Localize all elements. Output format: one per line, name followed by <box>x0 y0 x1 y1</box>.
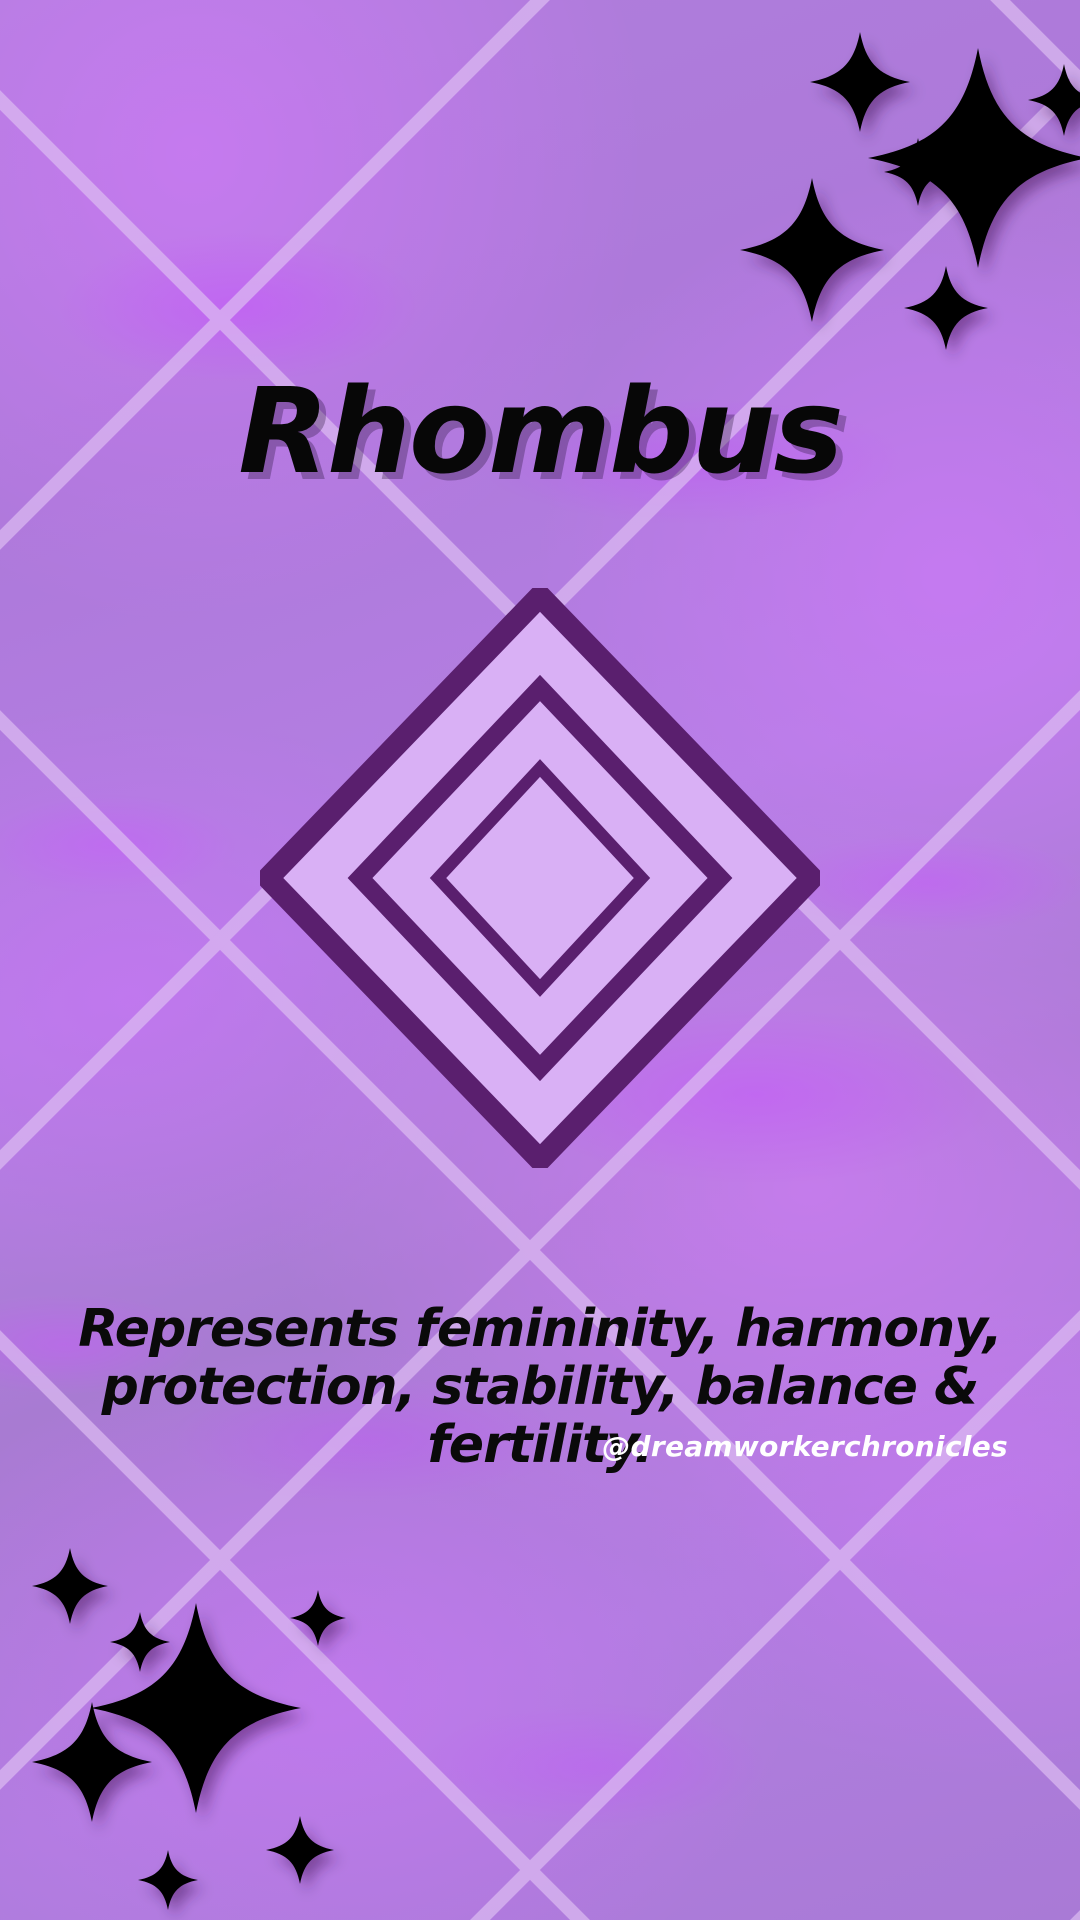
sparkle-icon <box>1028 64 1080 136</box>
sparkle-icon <box>32 1702 152 1822</box>
sparkle-icon <box>868 48 1080 268</box>
page-title: Rhombus <box>238 372 842 490</box>
sparkle-icon <box>884 138 952 206</box>
rhombus-figure <box>260 588 820 1168</box>
sparkle-icon <box>110 1612 170 1672</box>
sparkle-icon <box>32 1548 108 1624</box>
sparkle-icon <box>266 1816 334 1884</box>
sparkle-cluster-top-right <box>660 0 1080 400</box>
sparkle-icon <box>91 1603 301 1813</box>
sparkle-icon <box>290 1590 346 1646</box>
poster-canvas: Rhombus Represents femininity, harmony, … <box>0 0 1080 1920</box>
title-container: Rhombus <box>0 372 1080 490</box>
sparkle-icon <box>740 178 884 322</box>
social-handle: @dreamworkerchronicles <box>602 1430 1008 1463</box>
sparkle-icon <box>138 1850 198 1910</box>
sparkle-icon <box>904 266 988 350</box>
handle-container: @dreamworkerchronicles <box>602 1430 1008 1463</box>
sparkle-icon <box>810 32 910 132</box>
sparkle-cluster-bottom-left <box>0 1520 420 1920</box>
